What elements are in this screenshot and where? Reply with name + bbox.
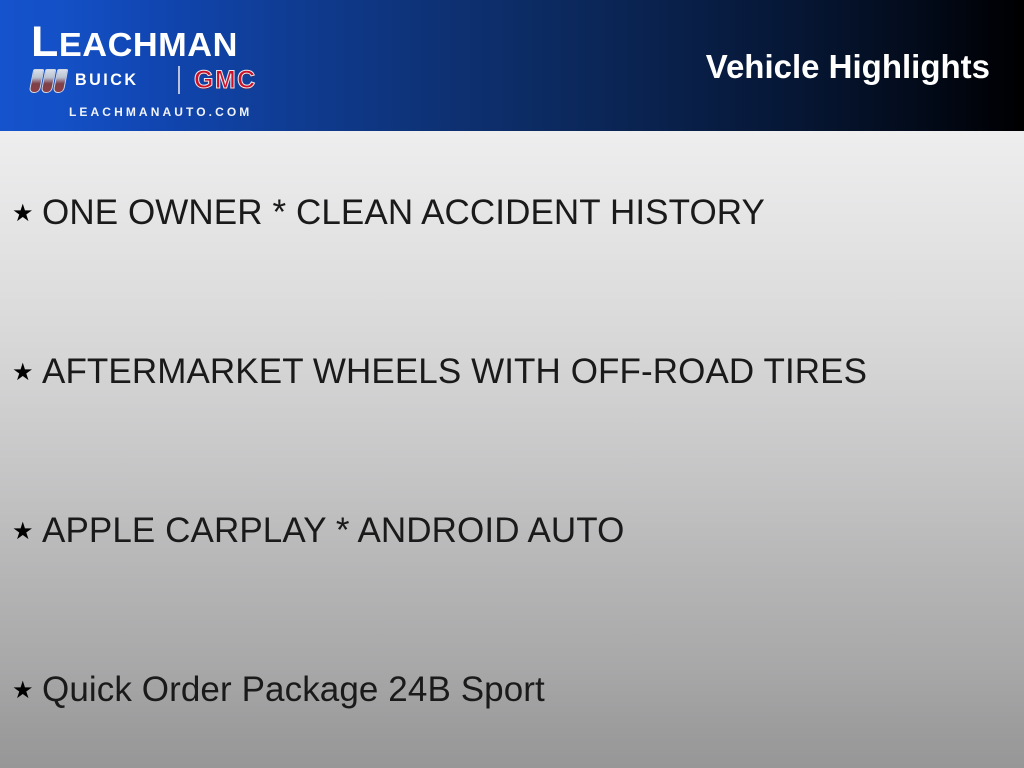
highlight-text: APPLE CARPLAY * ANDROID AUTO (42, 509, 624, 553)
page-header: LEACHMAN BUICK GMC LEACHMANAUTO.COM Vehi… (0, 0, 1024, 131)
highlights-list: ★ ONE OWNER * CLEAN ACCIDENT HISTORY ★ A… (0, 131, 1024, 768)
buick-wordmark: BUICK (75, 70, 139, 89)
dealer-wordmark-rest: EACHMAN (59, 26, 238, 63)
highlight-text: ONE OWNER * CLEAN ACCIDENT HISTORY (42, 191, 765, 235)
vehicle-highlights-page: LEACHMAN BUICK GMC LEACHMANAUTO.COM Vehi… (0, 0, 1024, 768)
content-area: ★ ONE OWNER * CLEAN ACCIDENT HISTORY ★ A… (0, 131, 1024, 768)
list-item: ★ AFTERMARKET WHEELS WITH OFF-ROAD TIRES (12, 350, 1002, 394)
list-item: ★ ONE OWNER * CLEAN ACCIDENT HISTORY (12, 191, 1002, 235)
list-item: ★ Quick Order Package 24B Sport (12, 668, 1002, 712)
dealer-website-url[interactable]: LEACHMANAUTO.COM (69, 105, 252, 119)
star-icon: ★ (12, 350, 42, 394)
dealer-wordmark: LEACHMAN (31, 20, 297, 64)
dealer-logo[interactable]: LEACHMAN BUICK GMC LEACHMANAUTO.COM (22, 8, 294, 124)
page-title: Vehicle Highlights (706, 48, 990, 86)
highlight-text: AFTERMARKET WHEELS WITH OFF-ROAD TIRES (42, 350, 867, 394)
brand-row: BUICK GMC (31, 66, 289, 94)
dealer-wordmark-initial: L (31, 18, 59, 66)
list-item: ★ APPLE CARPLAY * ANDROID AUTO (12, 509, 1002, 553)
star-icon: ★ (12, 191, 42, 235)
buick-trishield-icon (31, 69, 67, 91)
star-icon: ★ (12, 668, 42, 712)
gmc-wordmark: GMC (194, 67, 257, 94)
highlight-text: Quick Order Package 24B Sport (42, 668, 545, 712)
star-icon: ★ (12, 509, 42, 553)
brand-divider (178, 66, 180, 94)
